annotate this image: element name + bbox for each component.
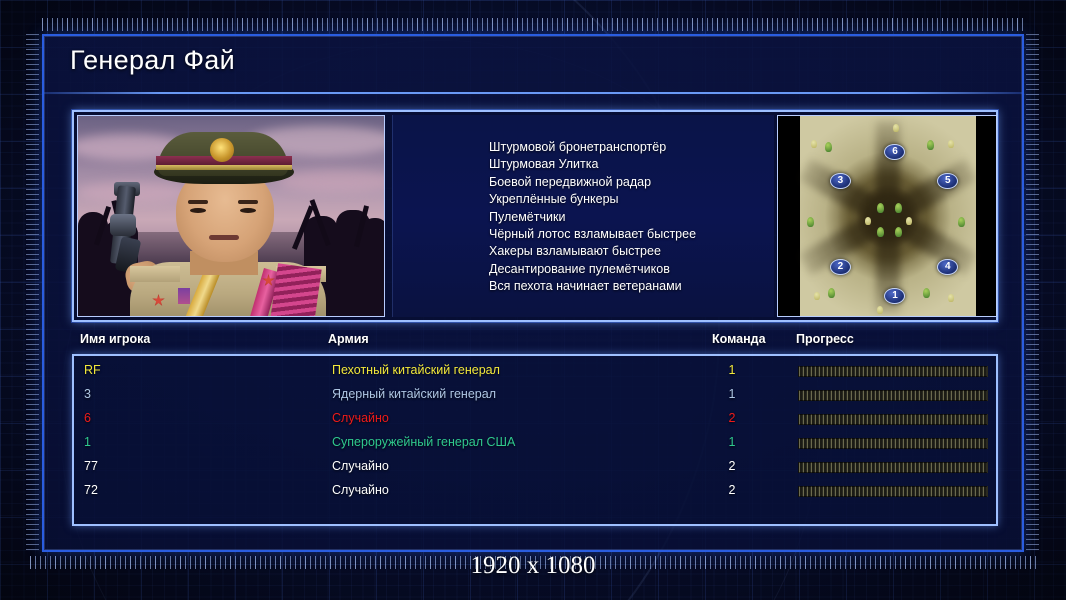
portrait-shoulder bbox=[130, 266, 180, 282]
map-resource-icon bbox=[865, 217, 871, 225]
content-frame: Штурмовой бронетранспортёр Штурмовая Ули… bbox=[72, 110, 998, 322]
player-team: 1 bbox=[714, 363, 750, 377]
column-header-army: Армия bbox=[328, 332, 369, 346]
player-team: 2 bbox=[714, 483, 750, 497]
column-header-team: Команда bbox=[712, 332, 766, 346]
list-item: Штурмовая Улитка bbox=[489, 156, 765, 173]
map-preview[interactable]: 6 3 5 2 4 1 bbox=[777, 115, 997, 317]
map-tree-icon bbox=[923, 288, 930, 298]
column-header-player-name: Имя игрока bbox=[80, 332, 150, 346]
list-item: Десантирование пулемётчиков bbox=[489, 261, 765, 278]
list-item: Вся пехота начинает ветеранами bbox=[489, 278, 765, 295]
table-row[interactable]: 1 Супероружейный генерал США 1 bbox=[74, 432, 996, 456]
player-progress-bar bbox=[798, 438, 988, 449]
map-tree-icon bbox=[877, 203, 884, 213]
player-army: Случайно bbox=[332, 411, 389, 425]
player-progress-bar bbox=[798, 462, 988, 473]
player-army: Пехотный китайский генерал bbox=[332, 363, 500, 377]
ruler-left bbox=[26, 34, 39, 552]
general-info-panel: Генерал Фай bbox=[42, 34, 1024, 552]
unit-list: Штурмовой бронетранспортёр Штурмовая Ули… bbox=[489, 139, 765, 296]
map-start-position-5[interactable]: 5 bbox=[937, 173, 958, 189]
map-resource-icon bbox=[906, 217, 912, 225]
table-row[interactable]: 6 Случайно 2 bbox=[74, 408, 996, 432]
map-terrain: 6 3 5 2 4 1 bbox=[800, 116, 976, 317]
list-item: Пулемётчики bbox=[489, 209, 765, 226]
portrait-eye bbox=[190, 208, 206, 213]
portrait-epaulet bbox=[270, 263, 321, 317]
map-resource-icon bbox=[893, 124, 899, 132]
player-name: 1 bbox=[84, 435, 91, 449]
map-tree-icon bbox=[958, 217, 965, 227]
map-tree-icon bbox=[895, 227, 902, 237]
player-name: 6 bbox=[84, 411, 91, 425]
map-start-position-1[interactable]: 1 bbox=[884, 288, 905, 304]
table-row[interactable]: 77 Случайно 2 bbox=[74, 456, 996, 480]
map-resource-icon bbox=[814, 292, 820, 300]
page-title: Генерал Фай bbox=[70, 45, 235, 76]
player-army: Случайно bbox=[332, 483, 389, 497]
map-tree-icon bbox=[927, 140, 934, 150]
map-start-position-3[interactable]: 3 bbox=[830, 173, 851, 189]
portrait-ribbon-medal bbox=[178, 288, 190, 304]
list-item: Штурмовой бронетранспортёр bbox=[489, 139, 765, 156]
player-army: Случайно bbox=[332, 459, 389, 473]
general-portrait bbox=[77, 115, 385, 317]
map-resource-icon bbox=[811, 140, 817, 148]
map-start-position-4[interactable]: 4 bbox=[937, 259, 958, 275]
map-start-position-6[interactable]: 6 bbox=[884, 144, 905, 160]
player-name: 72 bbox=[84, 483, 98, 497]
table-row[interactable]: 3 Ядерный китайский генерал 1 bbox=[74, 384, 996, 408]
players-table-header: Имя игрока Армия Команда Прогресс bbox=[72, 332, 998, 352]
player-progress-bar bbox=[798, 366, 988, 377]
player-progress-bar bbox=[798, 414, 988, 425]
list-item: Укреплённые бункеры bbox=[489, 191, 765, 208]
player-name: 77 bbox=[84, 459, 98, 473]
portrait-eye bbox=[240, 208, 256, 213]
player-team: 1 bbox=[714, 435, 750, 449]
list-item: Хакеры взламывают быстрее bbox=[489, 243, 765, 260]
map-start-position-2[interactable]: 2 bbox=[830, 259, 851, 275]
player-army: Супероружейный генерал США bbox=[332, 435, 515, 449]
table-row[interactable]: 72 Случайно 2 bbox=[74, 480, 996, 504]
ruler-right bbox=[1026, 34, 1039, 552]
map-tree-icon bbox=[895, 203, 902, 213]
resolution-label: 1920 x 1080 bbox=[0, 552, 1066, 580]
map-tree-icon bbox=[828, 288, 835, 298]
player-team: 2 bbox=[714, 411, 750, 425]
panel-title-row: Генерал Фай bbox=[44, 36, 1022, 92]
list-item: Чёрный лотос взламывает быстрее bbox=[489, 226, 765, 243]
player-progress-bar bbox=[798, 486, 988, 497]
table-row[interactable]: RF Пехотный китайский генерал 1 bbox=[74, 360, 996, 384]
map-resource-icon bbox=[948, 294, 954, 302]
map-tree-icon bbox=[807, 217, 814, 227]
general-abilities-panel: Штурмовой бронетранспортёр Штурмовая Ули… bbox=[392, 115, 774, 317]
player-name: RF bbox=[84, 363, 101, 377]
portrait-brow bbox=[238, 200, 258, 204]
portrait-hat-emblem bbox=[210, 138, 234, 162]
title-divider bbox=[44, 92, 1022, 94]
portrait-hat-trim bbox=[156, 165, 292, 170]
player-name: 3 bbox=[84, 387, 91, 401]
players-table: RF Пехотный китайский генерал 1 3 Ядерны… bbox=[72, 354, 998, 526]
player-army: Ядерный китайский генерал bbox=[332, 387, 496, 401]
player-team: 2 bbox=[714, 459, 750, 473]
column-header-progress: Прогресс bbox=[796, 332, 854, 346]
portrait-revolver-cylinder bbox=[110, 214, 136, 236]
map-tree-icon bbox=[825, 142, 832, 152]
list-item: Боевой передвижной радар bbox=[489, 174, 765, 191]
portrait-silhouette bbox=[362, 218, 385, 317]
portrait-mouth bbox=[209, 235, 239, 240]
player-progress-bar bbox=[798, 390, 988, 401]
map-resource-icon bbox=[948, 140, 954, 148]
ruler-top bbox=[42, 18, 1024, 31]
portrait-brow bbox=[188, 200, 208, 204]
player-team: 1 bbox=[714, 387, 750, 401]
map-resource-icon bbox=[877, 306, 883, 314]
